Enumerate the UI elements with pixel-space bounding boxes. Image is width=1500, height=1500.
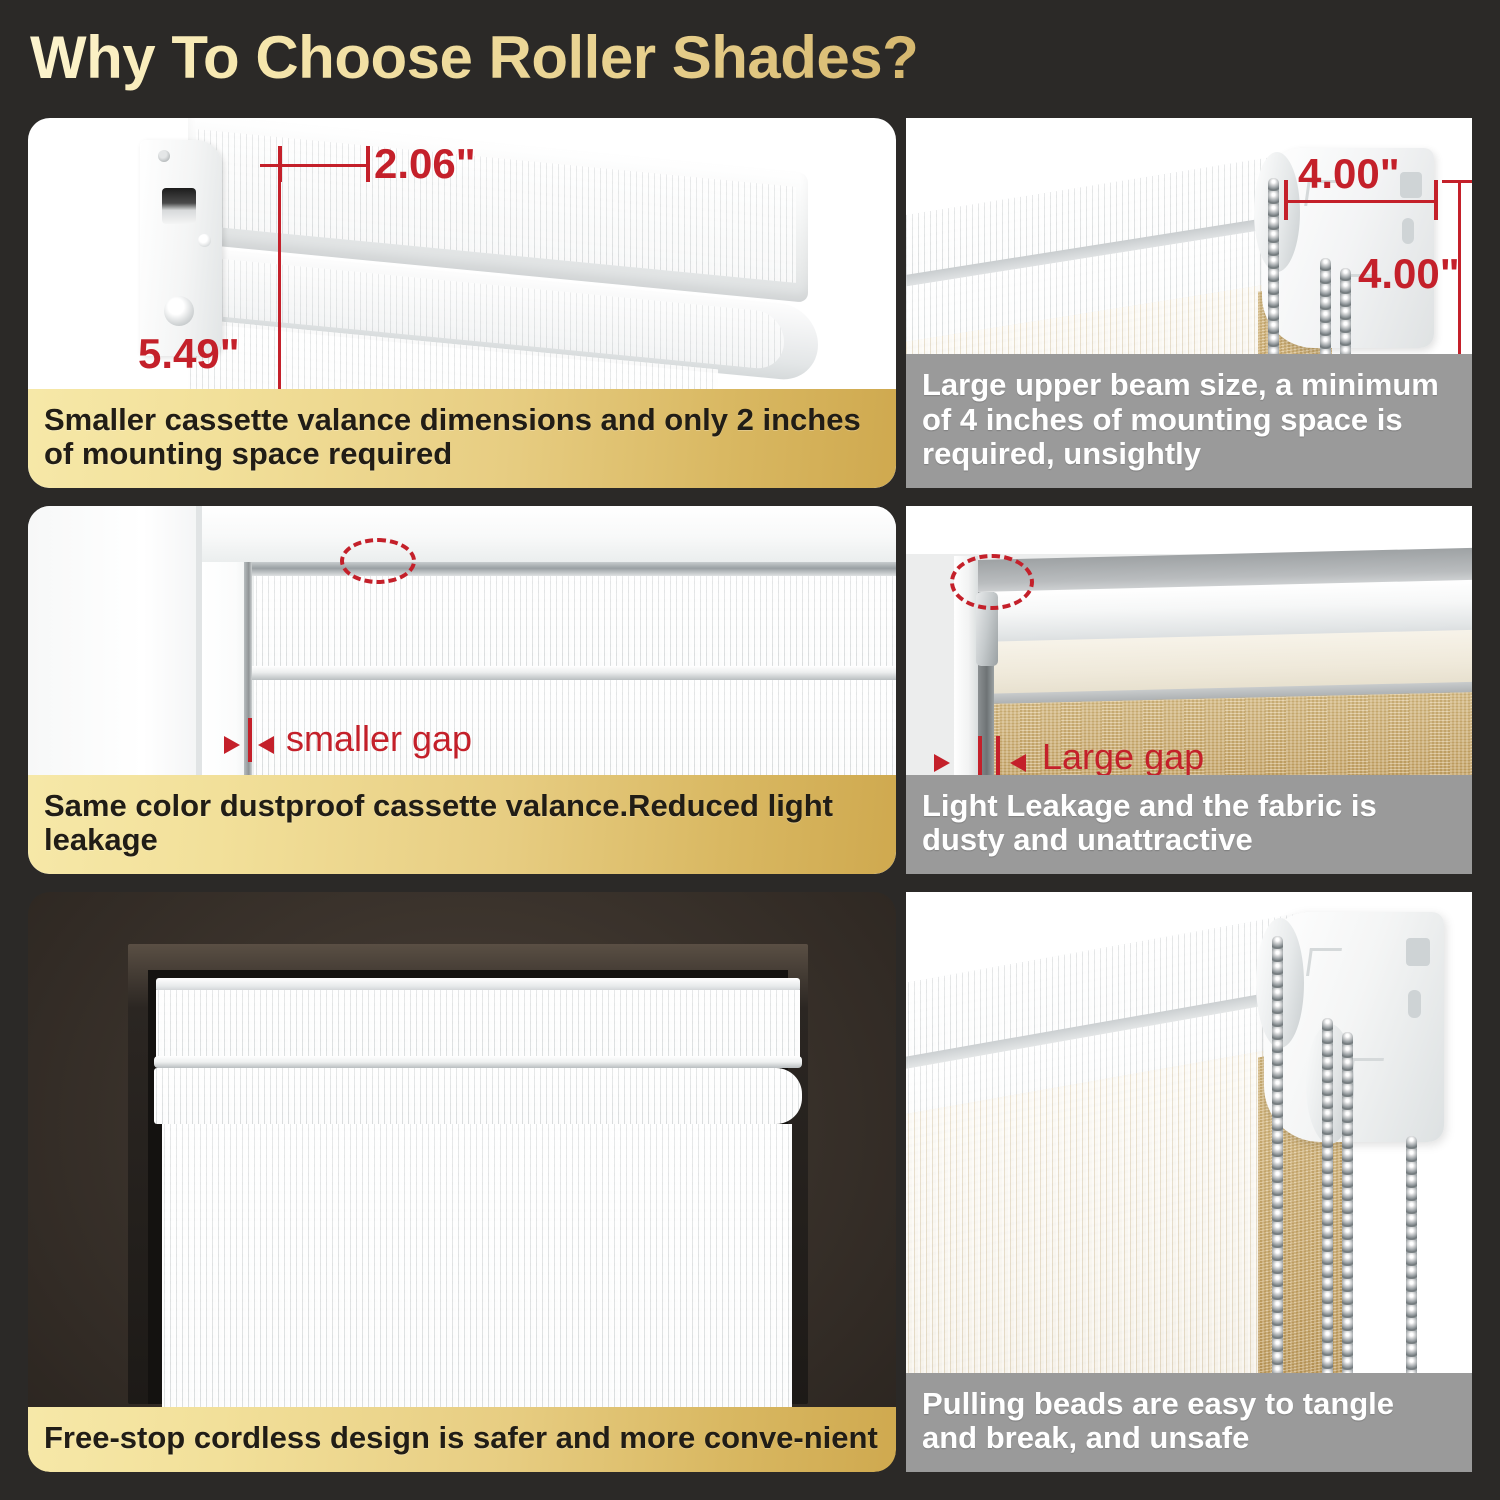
bracket-notch-top	[1406, 938, 1430, 966]
bracket-notch-mid	[1408, 990, 1421, 1018]
height-dimension-label: 5.49"	[138, 330, 240, 378]
panel-4-caption: Light Leakage and the fabric is dusty an…	[906, 775, 1472, 874]
panel-light-leakage: Large gap Light Leakage and the fabric i…	[906, 506, 1472, 874]
shade-divider-rail	[250, 666, 896, 680]
beam-height-tick-top	[1442, 180, 1472, 183]
highlight-circle	[950, 554, 1034, 610]
panel-1-caption: Smaller cassette valance dimensions and …	[28, 389, 896, 488]
beam-height-label: 4.00"	[1358, 250, 1460, 298]
highlight-circle	[340, 538, 416, 584]
bracket-logo-upper	[1306, 948, 1342, 976]
panel-5-caption: Free-stop cordless design is safer and m…	[28, 1407, 896, 1472]
large-gap-label: Large gap	[1042, 736, 1204, 778]
beam-width-tick-left	[1284, 180, 1288, 220]
bracket-notch-mid	[1402, 218, 1414, 244]
panel-smaller-cassette-valance: 2.06" 5.49" Smaller cassette valance dim…	[28, 118, 896, 488]
smaller-gap-label: smaller gap	[286, 718, 472, 760]
bracket-screw-lower	[164, 296, 194, 326]
valance-lip	[154, 1056, 802, 1068]
panel-large-upper-beam: 4.00" 4.00" Large upper beam size, a min…	[906, 118, 1472, 488]
roller-bar	[154, 1068, 802, 1124]
panel-2-caption: Large upper beam size, a minimum of 4 in…	[906, 354, 1472, 488]
gap-arrow-left	[224, 736, 240, 754]
beam-width-dimension-line	[1286, 200, 1438, 203]
height-dimension-tick-top	[260, 164, 296, 167]
panel-6-caption: Pulling beads are easy to tangle and bre…	[906, 1373, 1472, 1472]
gap-arrow-left	[934, 754, 950, 772]
bracket-notch-top	[1400, 172, 1422, 198]
photo-room-window	[28, 892, 896, 1472]
panel-dustproof-cassette: smaller gap Same color dustproof cassett…	[28, 506, 896, 874]
gap-tick-left	[978, 736, 982, 780]
bracket-screw-upper	[198, 234, 211, 247]
panel-3-caption: Same color dustproof cassette valance.Re…	[28, 775, 896, 874]
window-casing-head	[202, 506, 896, 562]
width-dimension-tick-right	[366, 146, 370, 182]
beam-width-tick-right	[1434, 180, 1438, 220]
panel-cordless-design: Free-stop cordless design is safer and m…	[28, 892, 896, 1472]
gap-tick	[248, 718, 252, 762]
valance-face	[156, 990, 800, 1060]
wall-upper	[906, 506, 1472, 554]
beam-width-label: 4.00"	[1298, 150, 1400, 198]
width-dimension-label: 2.06"	[374, 140, 476, 188]
page-title: Why To Choose Roller Shades?	[30, 18, 1230, 98]
bracket-slot	[162, 188, 196, 224]
gap-arrow-right	[1010, 754, 1026, 772]
shade-fabric-upper	[254, 576, 896, 674]
gap-tick-right	[996, 736, 1000, 780]
gap-arrow-right	[258, 736, 274, 754]
bracket-pin	[158, 150, 170, 162]
panel-pulling-beads: Pulling beads are easy to tangle and bre…	[906, 892, 1472, 1472]
shade-fabric-drop	[162, 1124, 792, 1410]
